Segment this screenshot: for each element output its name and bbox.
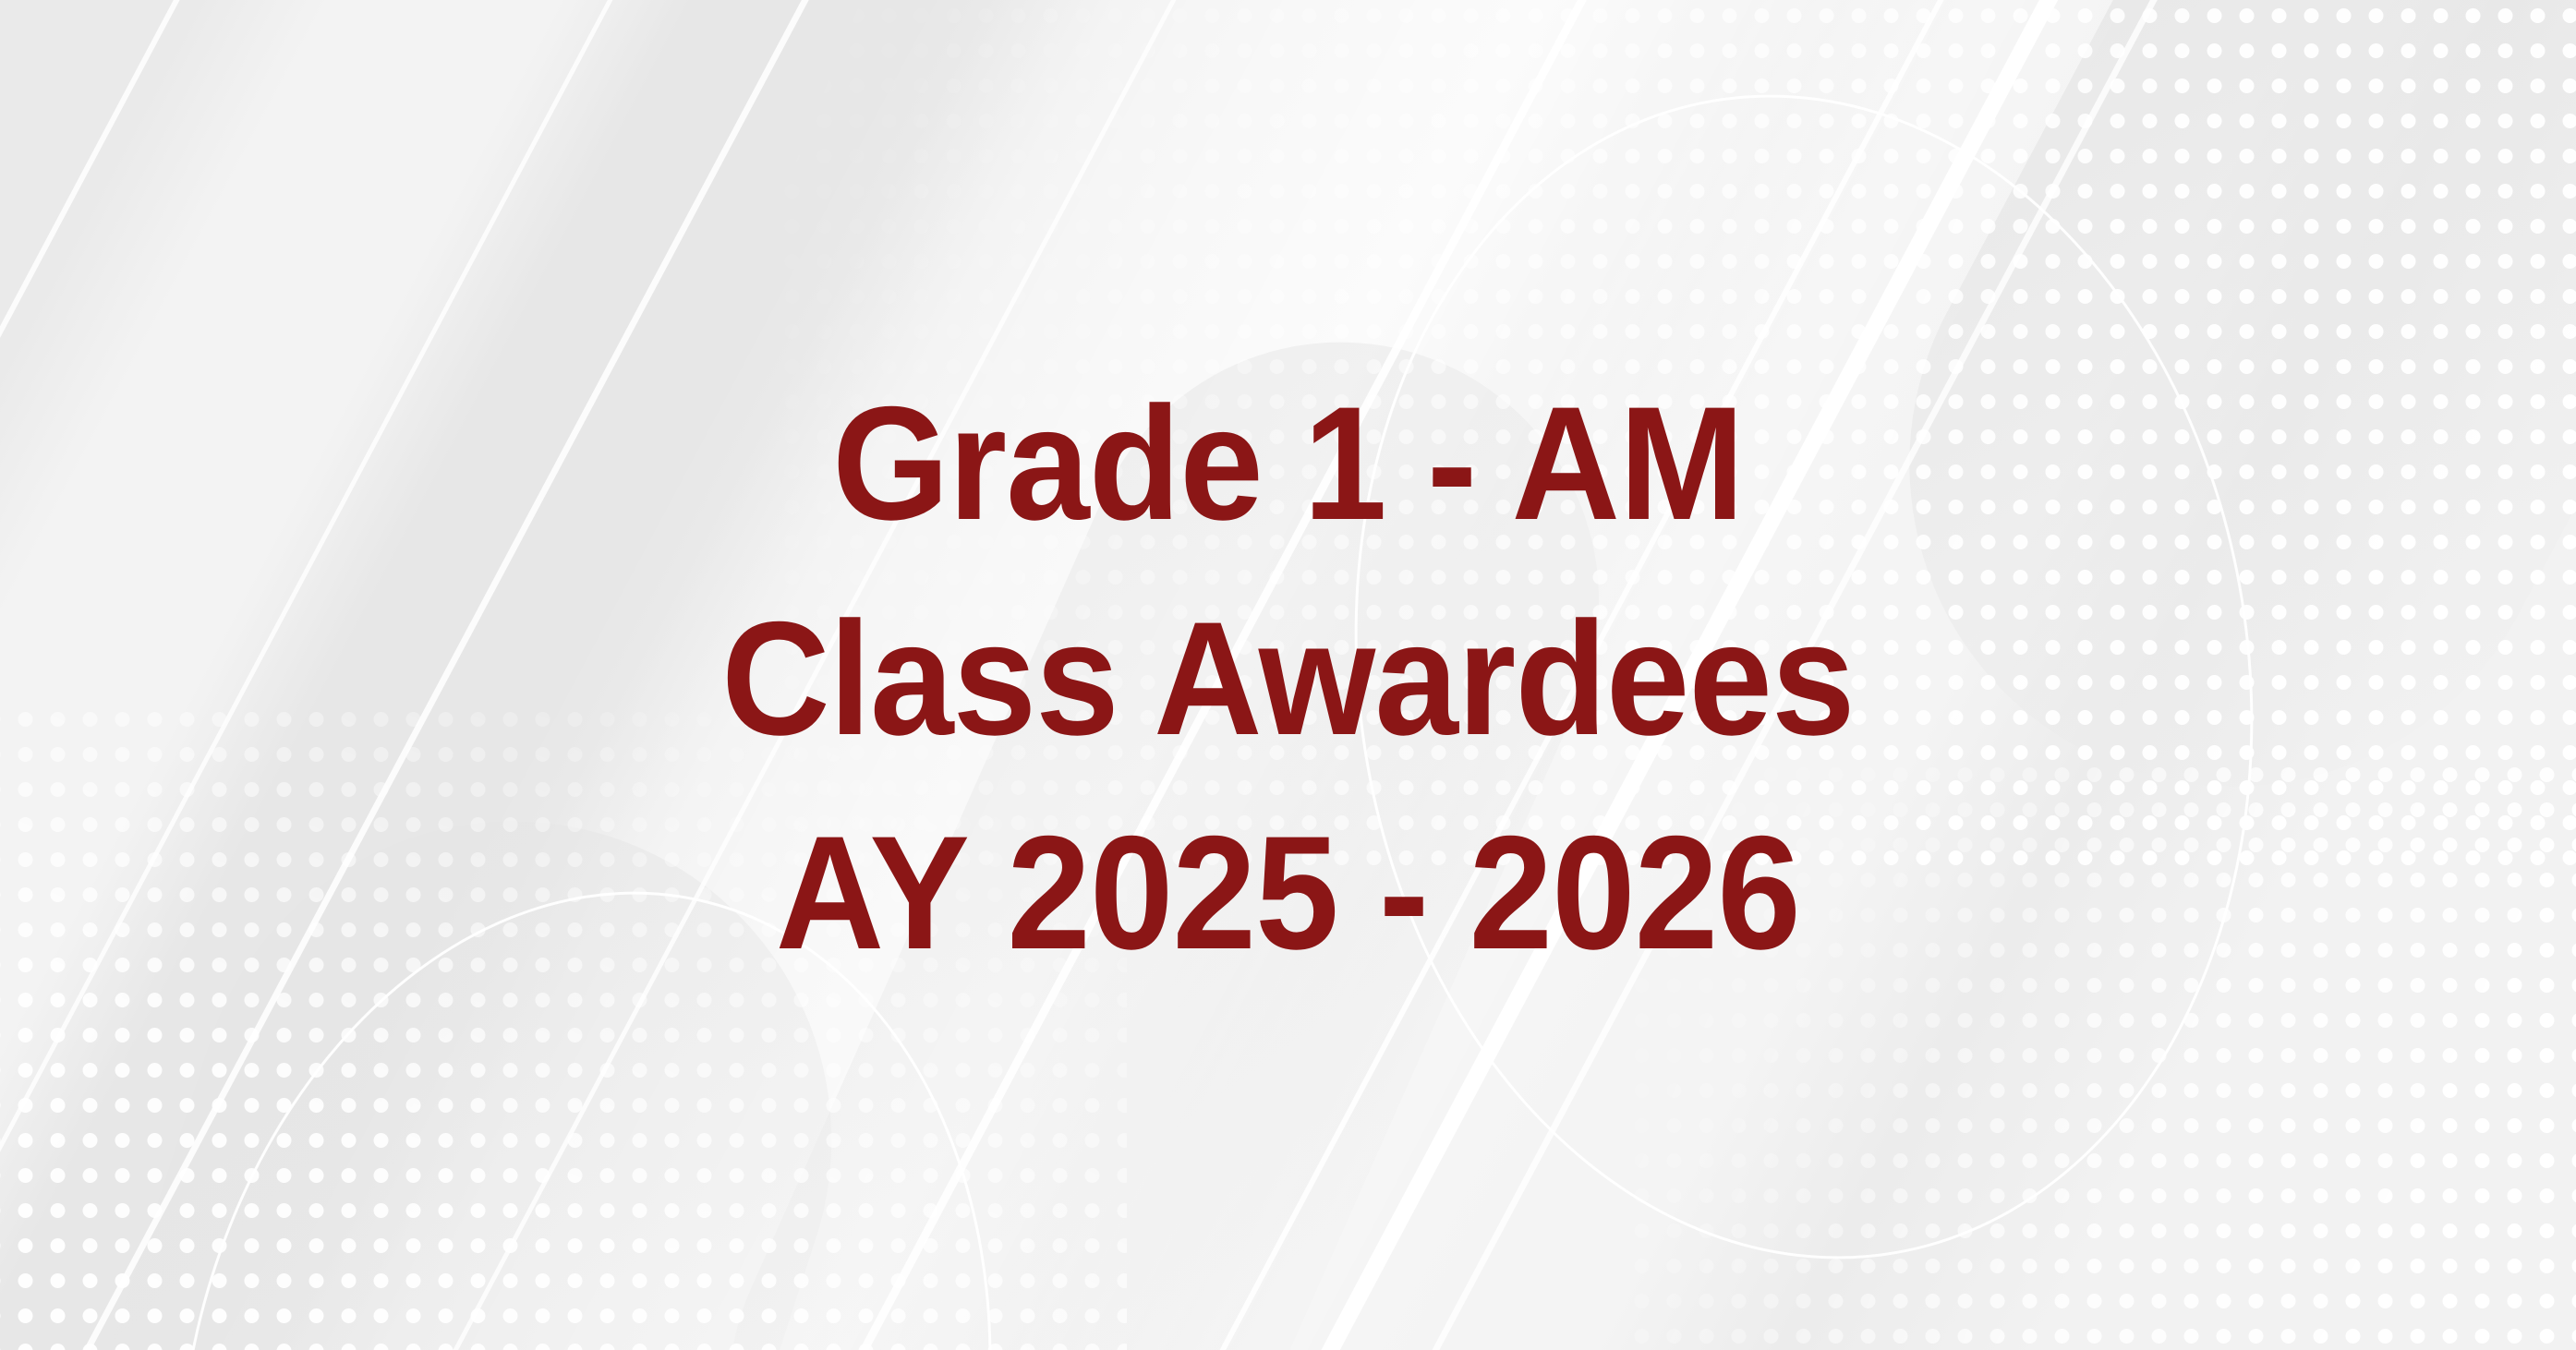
- title-line-1: Grade 1 - AM: [832, 357, 1744, 573]
- title-block: Grade 1 - AM Class Awardees AY 2025 - 20…: [0, 0, 2576, 1350]
- title-line-2: Class Awardees: [721, 573, 1854, 788]
- title-slide: Grade 1 - AM Class Awardees AY 2025 - 20…: [0, 0, 2576, 1350]
- title-line-3: AY 2025 - 2026: [776, 787, 1800, 1002]
